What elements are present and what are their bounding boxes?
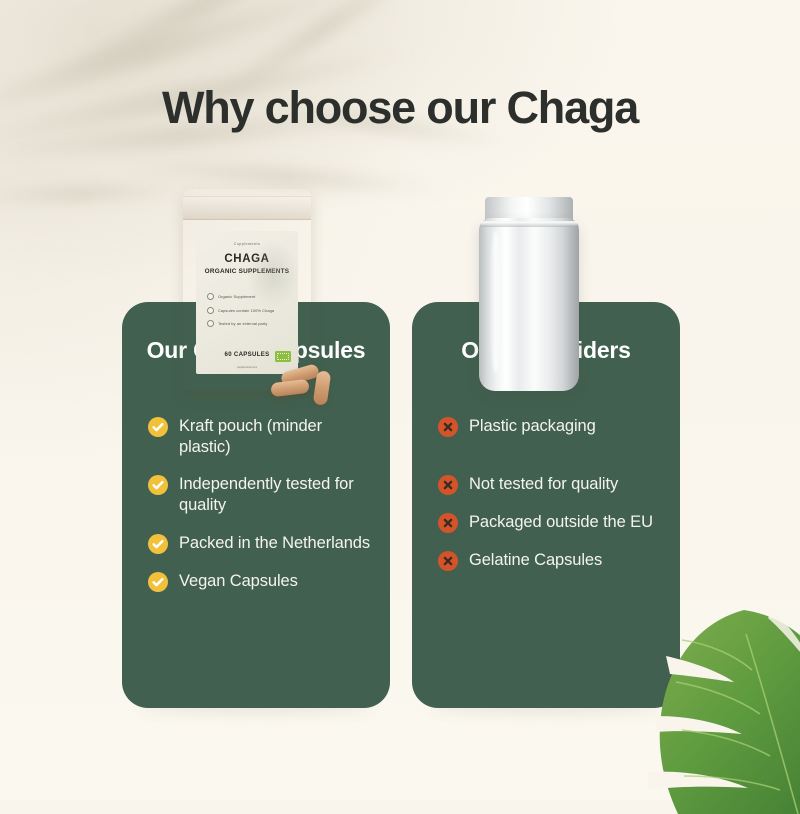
list-item: Packed in the Netherlands bbox=[148, 532, 376, 554]
bullet-badge-icon bbox=[207, 293, 214, 300]
list-item: Kraft pouch (minder plastic) bbox=[148, 415, 376, 457]
cross-circle-icon bbox=[438, 475, 458, 495]
cross-circle-icon bbox=[438, 513, 458, 533]
feature-list-our-chaga: Kraft pouch (minder plastic) Independent… bbox=[148, 415, 376, 592]
label-bullet-list: Organic Supplement Capsules contain 100%… bbox=[207, 293, 290, 334]
list-item-label: Plastic packaging bbox=[469, 415, 596, 437]
list-item-label: Gelatine Capsules bbox=[469, 549, 602, 571]
list-item: Plastic packaging bbox=[438, 415, 666, 437]
list-item: Gelatine Capsules bbox=[438, 549, 666, 571]
feature-list-other-providers: Plastic packaging Not tested for quality… bbox=[438, 415, 666, 571]
list-item-label: Packed in the Netherlands bbox=[179, 532, 370, 554]
label-subtitle: ORGANIC SUPPLEMENTS bbox=[196, 268, 298, 275]
list-item-label: Vegan Capsules bbox=[179, 570, 298, 592]
silver-pouch-highlight bbox=[489, 231, 502, 373]
label-bullet: Organic Supplement bbox=[207, 293, 290, 300]
label-bullet: Tested by an external party bbox=[207, 320, 290, 327]
list-item-label: Independently tested for quality bbox=[179, 473, 376, 515]
list-item-label: Packaged outside the EU bbox=[469, 511, 653, 533]
check-circle-icon bbox=[148, 417, 168, 437]
list-item: Packaged outside the EU bbox=[438, 511, 666, 533]
label-bullet-text: Organic Supplement bbox=[218, 294, 255, 299]
eu-organic-leaf-icon bbox=[275, 351, 291, 362]
kraft-pouch-label: Cupplements CHAGA ORGANIC SUPPLEMENTS Or… bbox=[196, 231, 298, 374]
product-image-silver-pouch bbox=[473, 197, 585, 391]
label-bullet: Capsules contain 100% Chaga bbox=[207, 307, 290, 314]
list-item: Independently tested for quality bbox=[148, 473, 376, 515]
list-item-label: Kraft pouch (minder plastic) bbox=[179, 415, 376, 457]
product-image-kraft-pouch: Cupplements CHAGA ORGANIC SUPPLEMENTS Or… bbox=[183, 189, 311, 391]
label-brand: Cupplements bbox=[196, 242, 298, 246]
check-circle-icon bbox=[148, 572, 168, 592]
palm-shadow-icon bbox=[0, 182, 200, 205]
list-item-label: Not tested for quality bbox=[469, 473, 618, 495]
check-circle-icon bbox=[148, 475, 168, 495]
page-title: Why choose our Chaga bbox=[0, 82, 800, 134]
label-bullet-text: Capsules contain 100% Chaga bbox=[218, 308, 274, 313]
label-footer: cupplements.com bbox=[196, 366, 298, 369]
cross-circle-icon bbox=[438, 551, 458, 571]
label-bullet-text: Tested by an external party bbox=[218, 321, 267, 326]
check-circle-icon bbox=[148, 534, 168, 554]
cross-circle-icon bbox=[438, 417, 458, 437]
monstera-leaf-icon bbox=[648, 604, 800, 814]
kraft-pouch-seal bbox=[183, 196, 311, 220]
list-item: Not tested for quality bbox=[438, 473, 666, 495]
label-product-name: CHAGA bbox=[196, 253, 298, 265]
bullet-badge-icon bbox=[207, 307, 214, 314]
silver-pouch-zipper bbox=[481, 221, 577, 227]
list-item: Vegan Capsules bbox=[148, 570, 376, 592]
bullet-badge-icon bbox=[207, 320, 214, 327]
